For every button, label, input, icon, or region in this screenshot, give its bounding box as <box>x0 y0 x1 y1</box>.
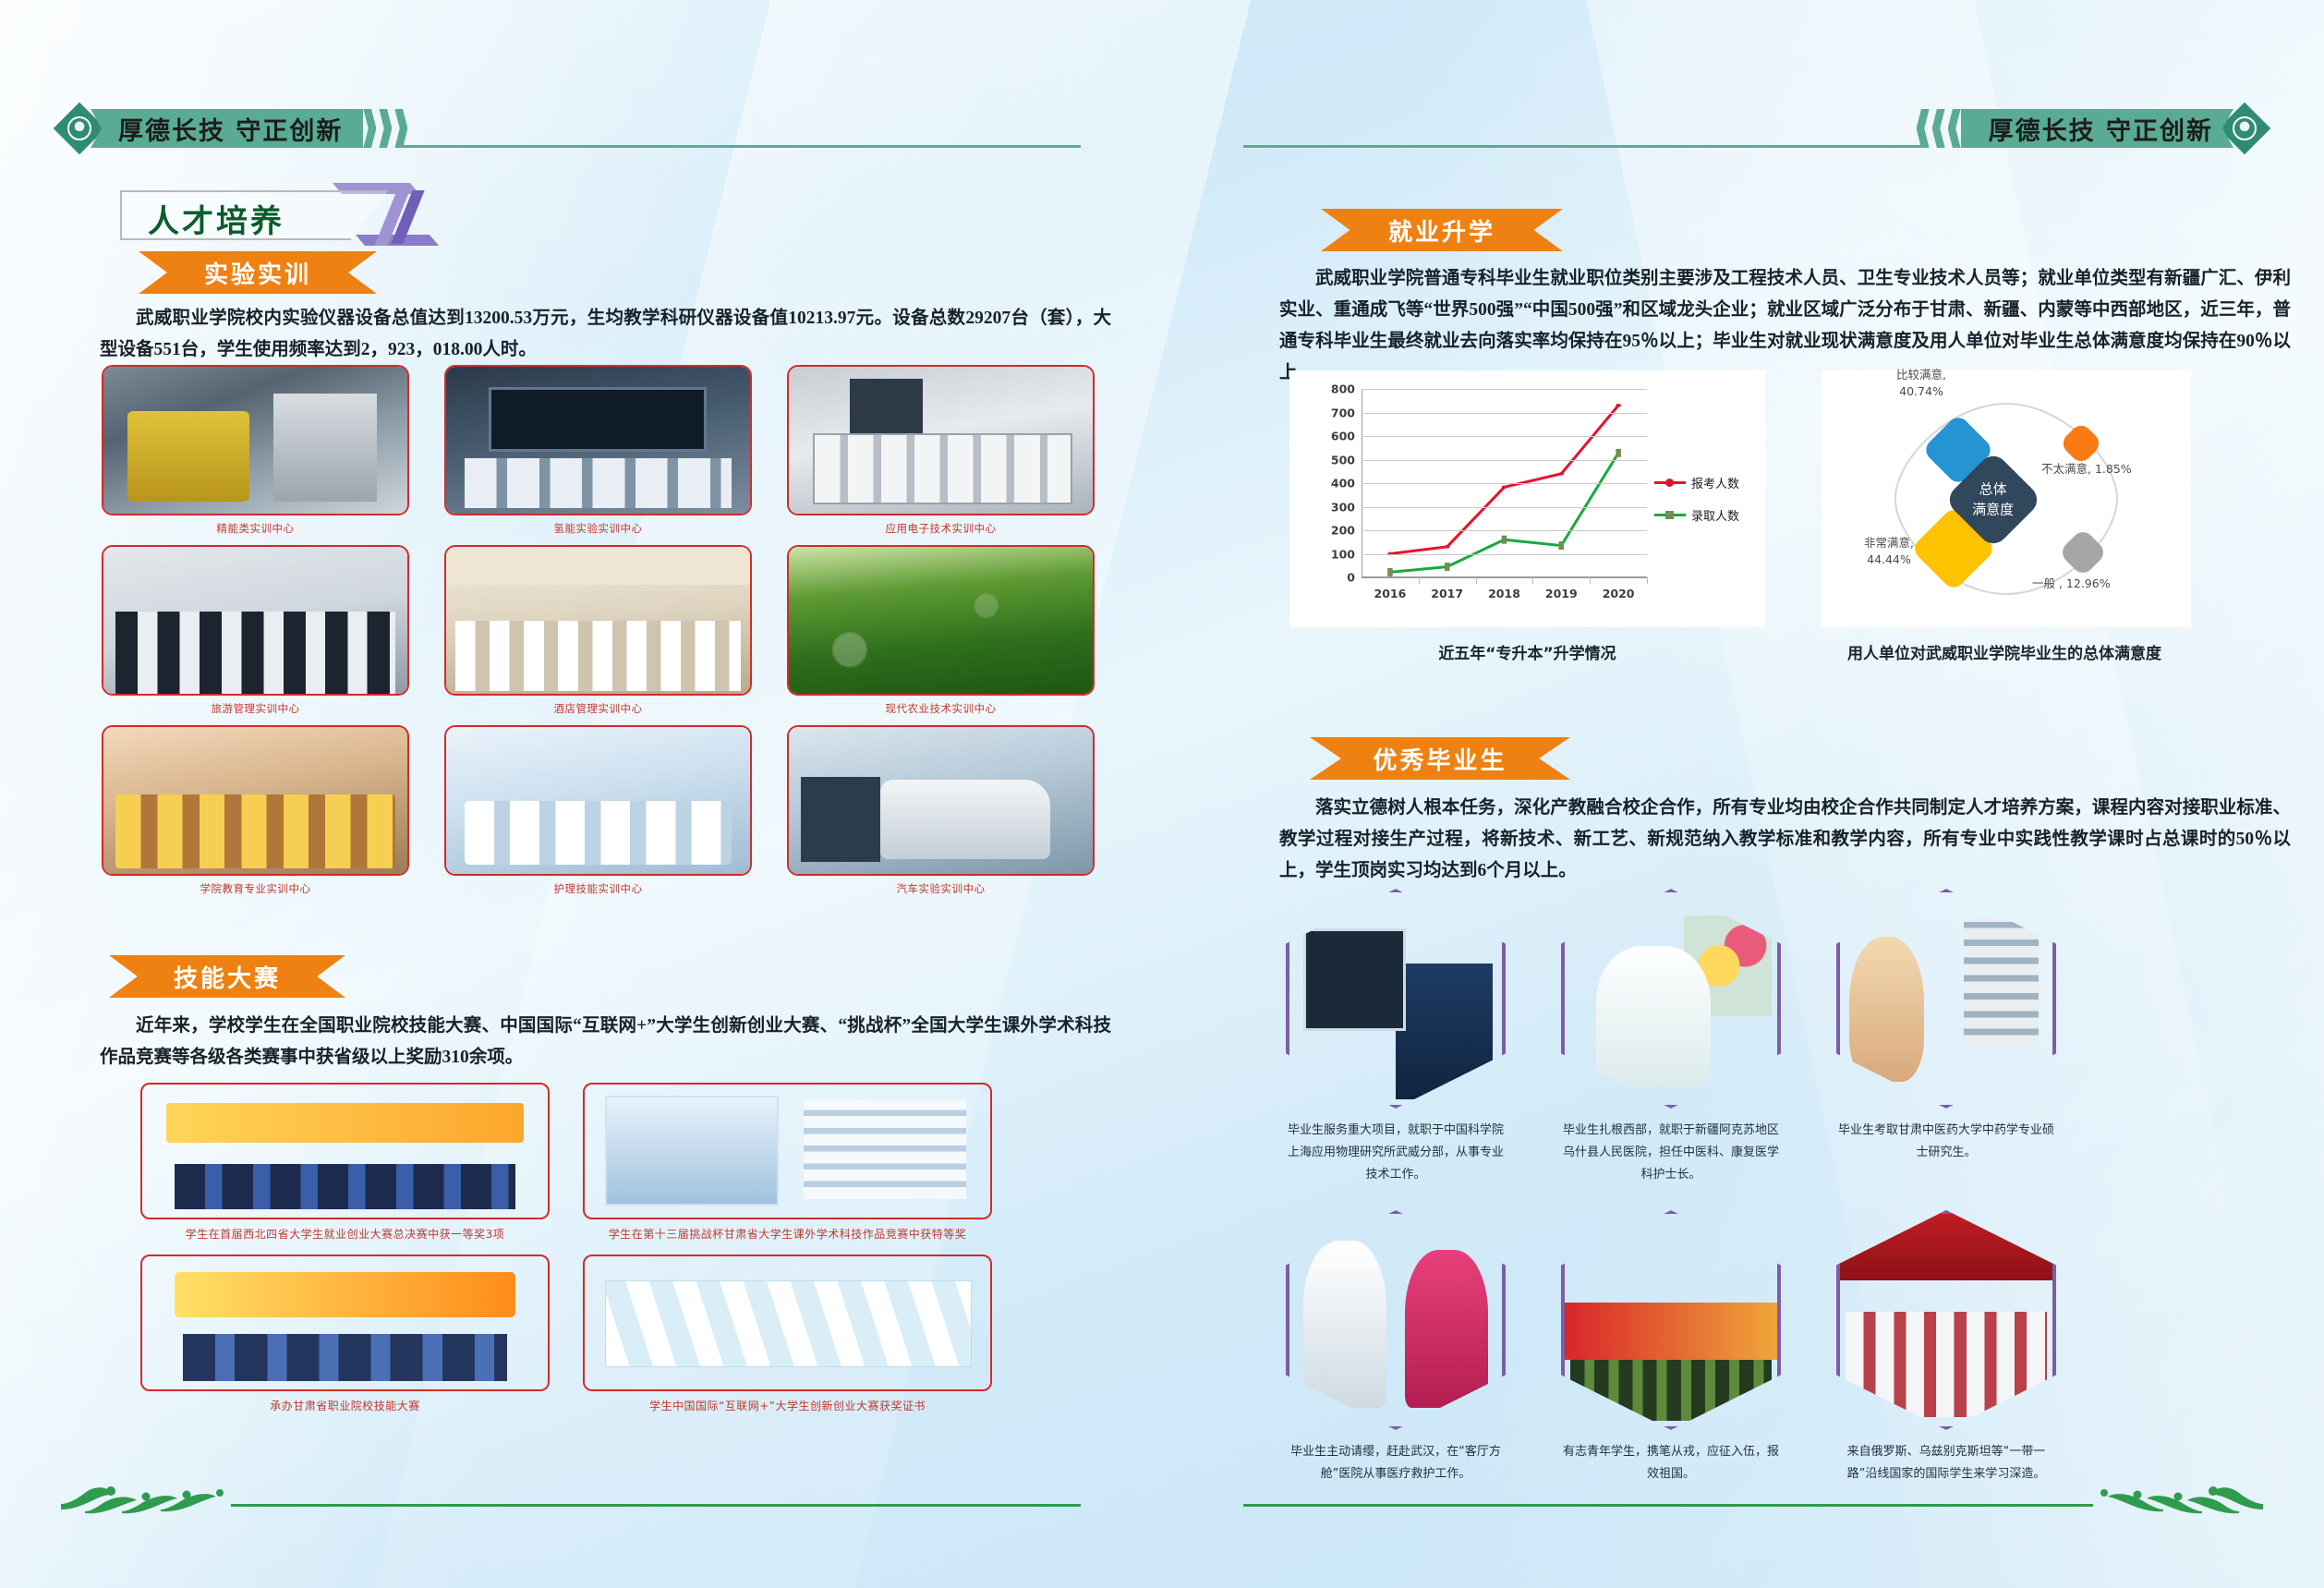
photo-card[interactable]: 酒店管理实训中心 <box>444 545 752 716</box>
photo-caption: 学生中国国际“互联网+”大学生创新创业大赛获奖证书 <box>583 1398 992 1413</box>
graduate-card[interactable]: 毕业生主动请缨，赶赴武汉，在“客厅方舱”医院从事医疗救护工作。 <box>1286 1210 1506 1485</box>
photo-card[interactable]: 旅游管理实训中心 <box>102 545 409 716</box>
chart-x-tick <box>1647 577 1648 584</box>
chart-gridline <box>1362 507 1647 508</box>
photo-card[interactable]: 汽车实验实训中心 <box>787 725 1095 896</box>
photo-thumbnail[interactable] <box>787 365 1095 515</box>
chart-x-tick-label: 2017 <box>1431 587 1463 600</box>
photo-caption: 旅游管理实训中心 <box>102 701 409 716</box>
chart-marker <box>1445 545 1450 549</box>
photo-thumbnail[interactable] <box>583 1083 992 1219</box>
graduate-caption: 毕业生主动请缨，赶赴武汉，在“客厅方舱”医院从事医疗救护工作。 <box>1286 1441 1506 1485</box>
skills-contest-photo-grid: 学生在首届西北四省大学生就业创业大赛总决赛中获一等奖3项 学生在第十三届挑战杯甘… <box>140 1083 1110 1413</box>
chart-marker <box>1616 449 1621 457</box>
header-slogan: 厚德长技 守正创新 <box>1989 111 2213 147</box>
photo-card[interactable]: 学院教育专业实训中心 <box>102 725 409 896</box>
line-chart-plot: 0100200300400500600700800201620172018201… <box>1362 389 1647 577</box>
section-paragraph-lab-training: 武威职业学院校内实验仪器设备总值达到13200.53万元，生均教学科研仪器设备值… <box>100 303 1111 366</box>
section-banner-lab-training: 实验实训 <box>139 251 377 294</box>
footer-vine-left <box>57 1477 233 1518</box>
chart-y-tick-label: 200 <box>1331 524 1355 538</box>
chart-y-tick-label: 800 <box>1331 382 1355 396</box>
graduate-card[interactable]: 毕业生扎根西部，就职于新疆阿克苏地区乌什县人民医院，担任中医科、康复医学科护士长… <box>1561 889 1781 1186</box>
graduate-caption: 来自俄罗斯、乌兹别克斯坦等“一带一路”沿线国家的国际学生来学习深造。 <box>1836 1441 2056 1485</box>
chart-gridline <box>1362 530 1647 531</box>
legend-item: 报考人数 <box>1654 474 1739 491</box>
photo-caption: 氢能实验实训中心 <box>444 521 752 536</box>
satisfaction-label-fairly-satisfied: 比较满意,40.74% <box>1866 367 1977 400</box>
chart-marker <box>1502 485 1507 489</box>
line-chart-caption: 近五年“专升本”升学情况 <box>1289 640 1765 663</box>
section-banner-employment: 就业升学 <box>1321 209 1563 251</box>
photo-caption: 学生在第十三届挑战杯甘肃省大学生课外学术科技作品竞赛中获特等奖 <box>583 1226 992 1242</box>
chart-y-tick-label: 100 <box>1331 547 1355 561</box>
chart-marker <box>1387 568 1393 576</box>
satisfaction-diagram-caption: 用人单位对武威职业学院毕业生的总体满意度 <box>1773 640 2235 663</box>
chart-gridline <box>1362 436 1647 437</box>
chart-gridline <box>1362 413 1647 414</box>
photo-card[interactable]: 学生在首届西北四省大学生就业创业大赛总决赛中获一等奖3项 <box>140 1083 550 1242</box>
satisfaction-center-label: 总体满意度 <box>1972 479 2014 520</box>
chart-y-tick-label: 300 <box>1331 500 1355 514</box>
header-rule-left <box>397 145 1081 148</box>
photo-caption: 承办甘肃省职业院校技能大赛 <box>140 1398 550 1413</box>
photo-caption: 精能类实训中心 <box>102 521 409 536</box>
page-header-right: 厚德长技 守正创新 <box>1917 109 2263 148</box>
chart-y-tick-label: 0 <box>1347 571 1355 585</box>
photo-thumbnail[interactable] <box>102 365 409 515</box>
photo-card[interactable]: 精能类实训中心 <box>102 365 409 536</box>
footer-vine-right <box>2091 1477 2267 1518</box>
chart-y-tick-label: 700 <box>1331 406 1355 419</box>
graduate-caption: 毕业生考取甘肃中医药大学中药学专业硕士研究生。 <box>1836 1120 2056 1164</box>
satisfaction-diagram: 总体满意度 比较满意,40.74% 不太满意, 1.85% 一般 , 12.96… <box>1822 370 2191 627</box>
lab-training-photo-grid: 精能类实训中心 氢能实验实训中心 应用电子技术实训中心 旅游管理实训中心 酒店管… <box>102 365 1095 896</box>
graduate-caption: 毕业生扎根西部，就职于新疆阿克苏地区乌什县人民医院，担任中医科、康复医学科护士长… <box>1561 1120 1781 1186</box>
chart-marker <box>1559 472 1565 476</box>
graduate-card[interactable]: 毕业生考取甘肃中医药大学中药学专业硕士研究生。 <box>1836 889 2056 1186</box>
photo-card[interactable]: 学生中国国际“互联网+”大学生创新创业大赛获奖证书 <box>583 1255 992 1413</box>
graduate-photo[interactable] <box>1286 1210 1506 1430</box>
satisfaction-label-dissatisfied: 不太满意, 1.85% <box>2041 461 2189 478</box>
chart-gridline <box>1362 577 1647 578</box>
chevron-left-icon <box>1917 109 1961 148</box>
chart-gridline <box>1362 483 1647 484</box>
chart-y-tick-label: 400 <box>1331 477 1355 491</box>
photo-caption: 汽车实验实训中心 <box>787 881 1095 896</box>
graduate-card[interactable]: 来自俄罗斯、乌兹别克斯坦等“一带一路”沿线国家的国际学生来学习深造。 <box>1836 1210 2056 1485</box>
section-paragraph-skills-contest: 近年来，学校学生在全国职业院校技能大赛、中国国际“互联网+”大学生创新创业大赛、… <box>100 1011 1111 1073</box>
chart-x-tick <box>1419 577 1420 584</box>
photo-thumbnail[interactable] <box>102 725 409 876</box>
chart-gridline <box>1362 460 1647 461</box>
graduate-caption: 毕业生服务重大项目，就职于中国科学院上海应用物理研究所武威分部，从事专业技术工作… <box>1286 1120 1506 1186</box>
photo-thumbnail[interactable] <box>444 725 752 876</box>
photo-thumbnail[interactable] <box>787 545 1095 696</box>
line-chart-card: 0100200300400500600700800201620172018201… <box>1289 370 1765 627</box>
section-paragraph-outstanding-graduates: 落实立德树人根本任务，深化产教融合校企合作，所有专业均由校企合作共同制定人才培养… <box>1279 793 2291 887</box>
page-title-label: 人才培养 <box>148 196 284 241</box>
section-banner-outstanding-graduates: 优秀毕业生 <box>1310 737 1570 780</box>
photo-caption: 学院教育专业实训中心 <box>102 881 409 896</box>
chart-x-tick-label: 2018 <box>1488 587 1520 600</box>
photo-thumbnail[interactable] <box>140 1255 550 1391</box>
graduate-card[interactable]: 有志青年学生，携笔从戎，应征入伍，报效祖国。 <box>1561 1210 1781 1485</box>
photo-caption: 护理技能实训中心 <box>444 881 752 896</box>
photo-caption: 应用电子技术实训中心 <box>787 521 1095 536</box>
photo-caption: 酒店管理实训中心 <box>444 701 752 716</box>
photo-thumbnail[interactable] <box>444 545 752 696</box>
chart-gridline <box>1362 389 1647 390</box>
photo-caption: 现代农业技术实训中心 <box>787 701 1095 716</box>
section-banner-skills-contest: 技能大赛 <box>109 955 345 998</box>
chart-x-tick <box>1532 577 1533 584</box>
graduate-caption: 有志青年学生，携笔从戎，应征入伍，报效祖国。 <box>1561 1441 1781 1485</box>
chart-marker <box>1616 404 1621 407</box>
photo-thumbnail[interactable] <box>140 1083 550 1219</box>
page-header-left: 厚德长技 守正创新 <box>61 109 407 148</box>
chart-marker <box>1502 536 1507 544</box>
graduate-photo[interactable] <box>1561 889 1781 1109</box>
chart-x-tick <box>1476 577 1477 584</box>
photo-thumbnail[interactable] <box>583 1255 992 1391</box>
page-title: 人才培养 <box>120 183 425 240</box>
satisfaction-label-very-satisfied: 非常满意,44.44% <box>1838 535 1940 568</box>
photo-card[interactable]: 学生在第十三届挑战杯甘肃省大学生课外学术科技作品竞赛中获特等奖 <box>583 1083 992 1242</box>
header-slogan: 厚德长技 守正创新 <box>118 111 343 147</box>
photo-card[interactable]: 现代农业技术实训中心 <box>787 545 1095 716</box>
chart-marker <box>1559 541 1565 550</box>
chart-x-tick-label: 2016 <box>1374 587 1406 600</box>
graduate-photo[interactable] <box>1836 889 2056 1109</box>
satisfaction-label-average: 一般 , 12.96% <box>2032 576 2180 592</box>
header-rule-right <box>1243 145 1927 148</box>
graduate-card[interactable]: 毕业生服务重大项目，就职于中国科学院上海应用物理研究所武威分部，从事专业技术工作… <box>1286 889 1506 1186</box>
photo-thumbnail[interactable] <box>444 365 752 515</box>
chart-x-tick-label: 2020 <box>1603 587 1635 600</box>
chart-line-0 <box>1390 406 1618 554</box>
footer-rule-left <box>231 1504 1081 1507</box>
legend-item: 录取人数 <box>1654 506 1739 524</box>
chevron-right-icon <box>363 109 407 148</box>
graduates-hex-grid: 毕业生服务重大项目，就职于中国科学院上海应用物理研究所武威分部，从事专业技术工作… <box>1286 889 2056 1485</box>
chart-y-tick-label: 600 <box>1331 430 1355 443</box>
photo-card[interactable]: 护理技能实训中心 <box>444 725 752 896</box>
chart-legend: 报考人数 录取人数 <box>1654 474 1739 539</box>
chart-gridline <box>1362 554 1647 555</box>
chart-x-tick <box>1590 577 1591 584</box>
chart-y-tick-label: 500 <box>1331 453 1355 467</box>
photo-card[interactable]: 承办甘肃省职业院校技能大赛 <box>140 1255 550 1413</box>
footer-rule-right <box>1243 1504 2093 1507</box>
graduate-photo[interactable] <box>1286 889 1506 1109</box>
graduate-photo[interactable] <box>1561 1210 1781 1430</box>
photo-thumbnail[interactable] <box>787 725 1095 876</box>
chart-marker <box>1445 563 1450 571</box>
photo-caption: 学生在首届西北四省大学生就业创业大赛总决赛中获一等奖3项 <box>140 1226 550 1242</box>
graduate-photo[interactable] <box>1836 1210 2056 1430</box>
chart-x-tick-label: 2019 <box>1545 587 1578 600</box>
photo-thumbnail[interactable] <box>102 545 409 696</box>
satisfaction-diagram-card: 总体满意度 比较满意,40.74% 不太满意, 1.85% 一般 , 12.96… <box>1822 370 2191 627</box>
photo-card[interactable]: 应用电子技术实训中心 <box>787 365 1095 536</box>
photo-card[interactable]: 氢能实验实训中心 <box>444 365 752 536</box>
